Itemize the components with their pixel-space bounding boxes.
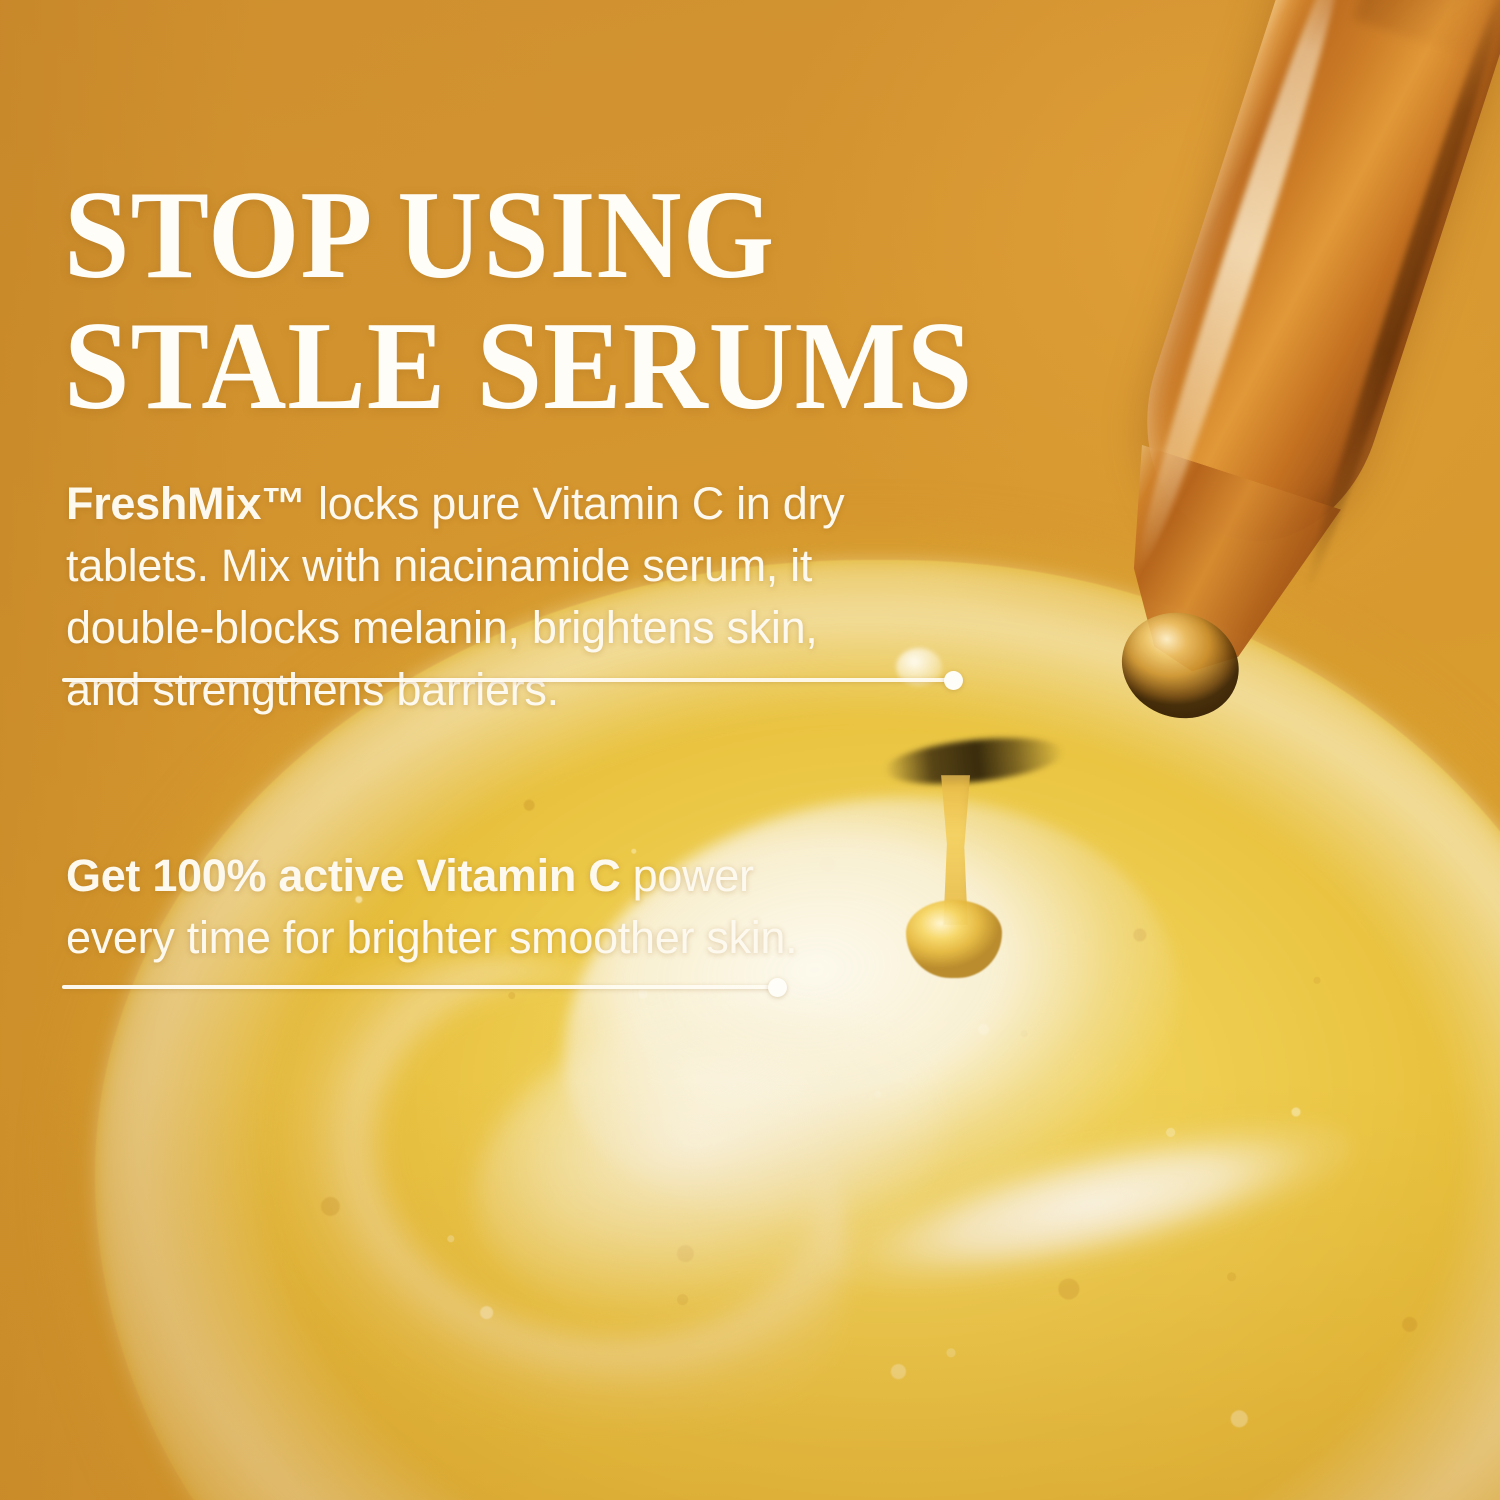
divider-rule-secondary xyxy=(62,985,778,989)
page-title: STOP USING STALE SERUMS xyxy=(64,170,1018,432)
divider-end-dot-icon xyxy=(768,978,787,997)
bottom-vignette xyxy=(0,1080,1500,1500)
feature-paragraph-secondary: Get 100% active Vitamin C power every ti… xyxy=(66,845,826,969)
benefit-claim-highlight: Get 100% active Vitamin C xyxy=(66,850,620,901)
divider-rule-primary xyxy=(62,678,954,682)
brand-name-freshmix: FreshMix™ xyxy=(66,478,306,529)
product-ad-canvas: STOP USING STALE SERUMS FreshMix™ locks … xyxy=(0,0,1500,1500)
feature-paragraph-primary: FreshMix™ locks pure Vitamin C in dry ta… xyxy=(66,473,886,721)
divider-end-dot-icon xyxy=(944,671,963,690)
